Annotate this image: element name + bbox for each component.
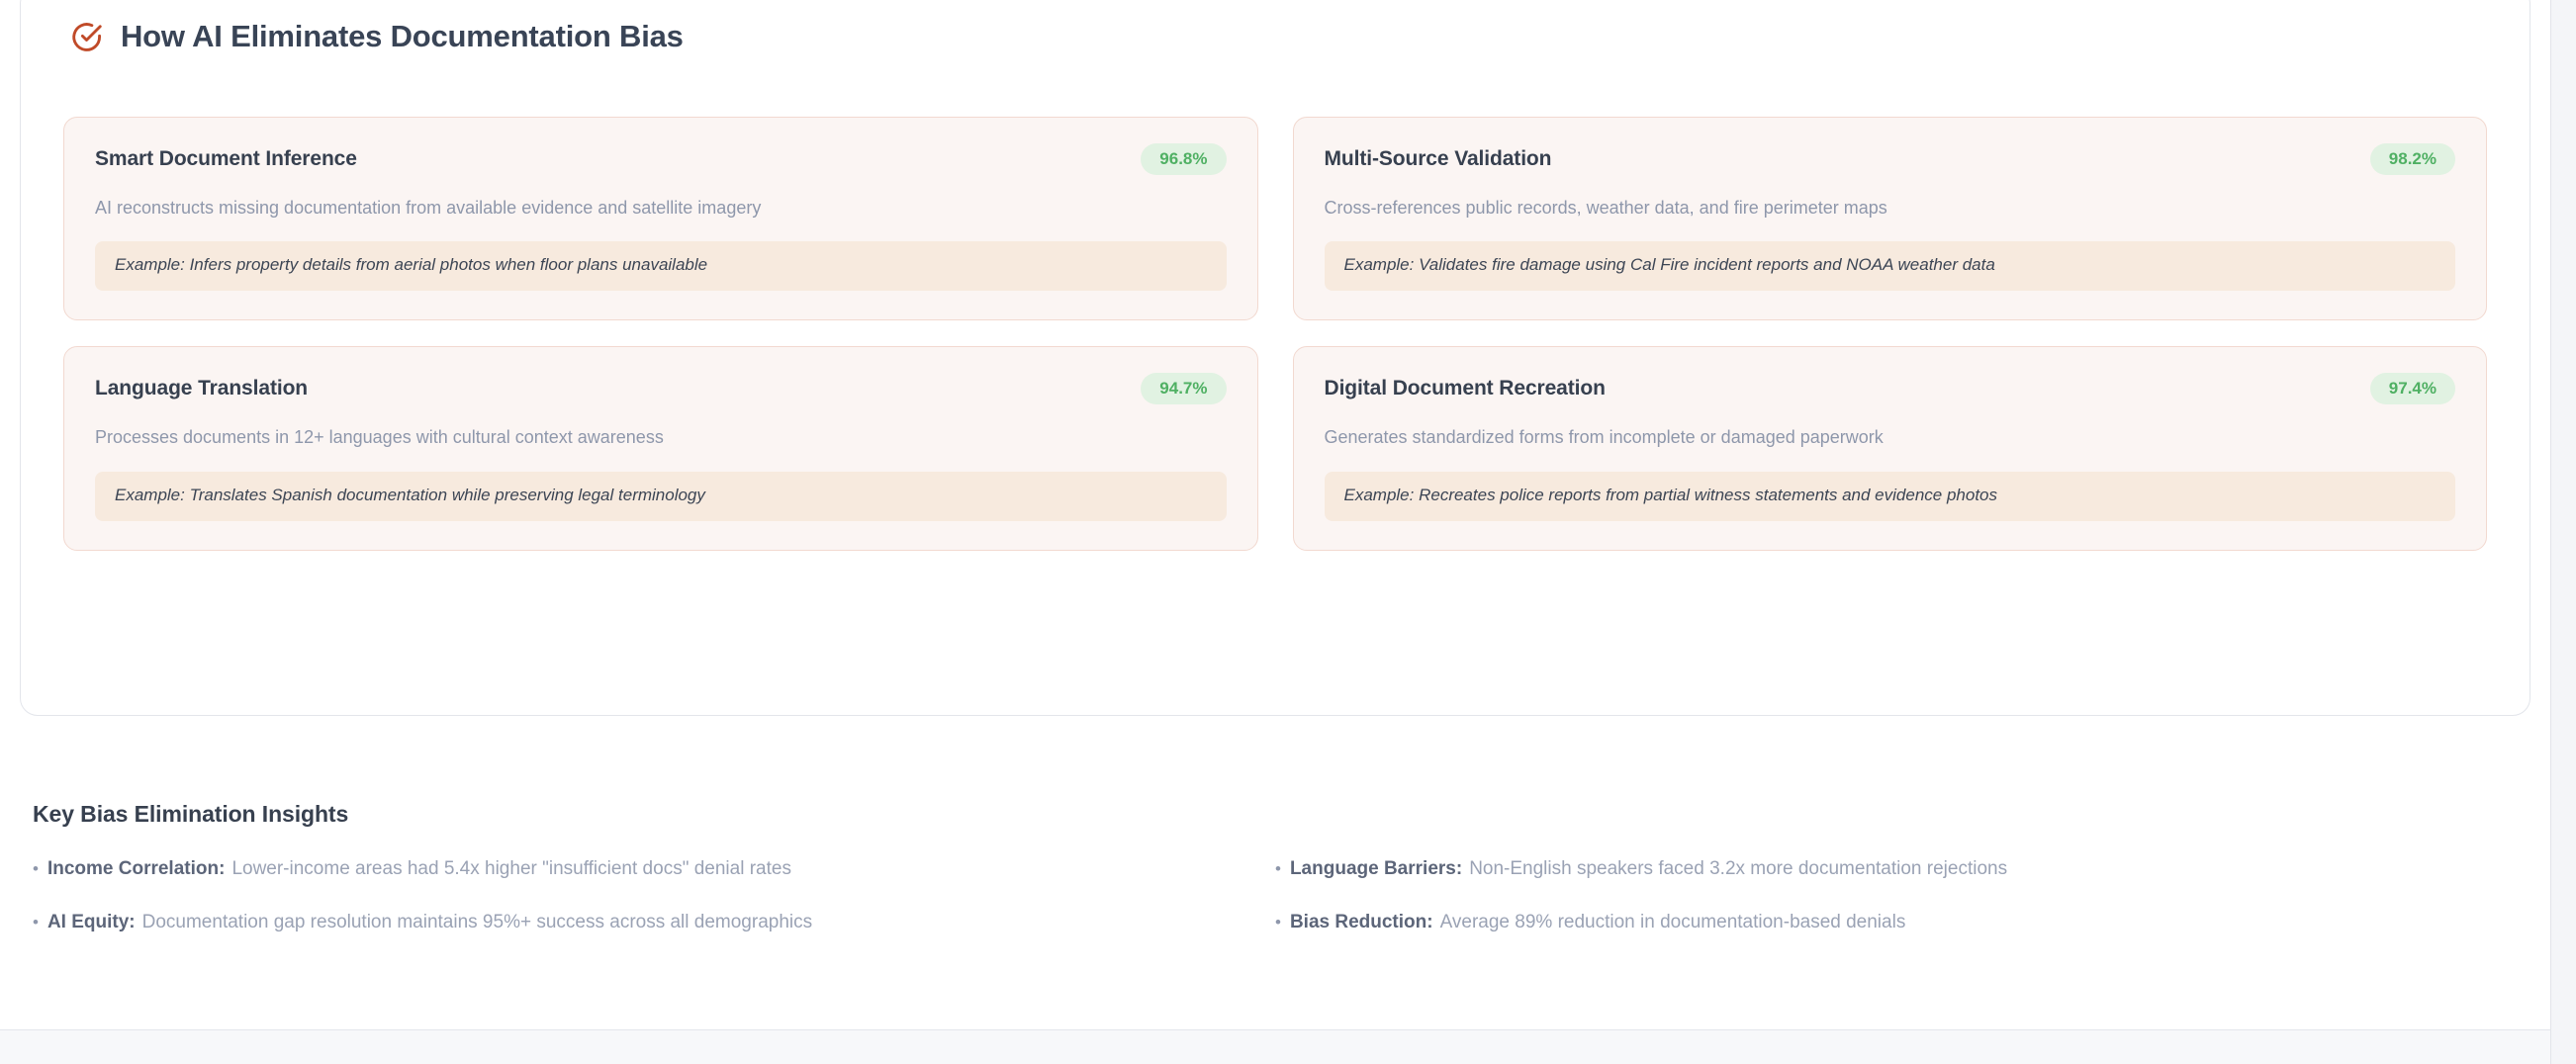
insight-label: Bias Reduction:: [1290, 910, 1433, 935]
feature-card-example: Example: Infers property details from ae…: [95, 241, 1227, 291]
accuracy-badge: 94.7%: [1141, 373, 1226, 404]
feature-card[interactable]: Language Translation 94.7% Processes doc…: [63, 346, 1258, 550]
bullet-icon: •: [1275, 858, 1281, 881]
bullet-icon: •: [33, 858, 39, 881]
feature-card-title: Multi-Source Validation: [1325, 147, 1552, 171]
feature-card-header: Language Translation 94.7%: [95, 373, 1227, 404]
insight-text: Documentation gap resolution maintains 9…: [142, 910, 813, 935]
page-root: How AI Eliminates Documentation Bias Sma…: [0, 0, 2576, 1064]
feature-card-example: Example: Translates Spanish documentatio…: [95, 472, 1227, 521]
feature-card[interactable]: Smart Document Inference 96.8% AI recons…: [63, 117, 1258, 320]
insight-item: • Bias Reduction: Average 89% reduction …: [1275, 910, 2486, 935]
bottom-strip: [0, 1030, 2550, 1064]
accuracy-badge: 96.8%: [1141, 143, 1226, 175]
check-circle-icon: [70, 21, 103, 53]
insight-text: Average 89% reduction in documentation-b…: [1440, 910, 1906, 935]
feature-card-header: Multi-Source Validation 98.2%: [1325, 143, 2456, 175]
insight-item: • Language Barriers: Non-English speaker…: [1275, 856, 2486, 882]
insight-label: Income Correlation:: [47, 856, 225, 882]
panel-header: How AI Eliminates Documentation Bias: [70, 19, 684, 54]
insight-item: • AI Equity: Documentation gap resolutio…: [33, 910, 1243, 935]
feature-card-header: Smart Document Inference 96.8%: [95, 143, 1227, 175]
page-scrollbar-track[interactable]: [2550, 0, 2576, 1064]
insight-text: Lower-income areas had 5.4x higher "insu…: [231, 856, 791, 882]
page-title: How AI Eliminates Documentation Bias: [121, 19, 684, 54]
insight-label: AI Equity:: [47, 910, 136, 935]
accuracy-badge: 97.4%: [2370, 373, 2455, 404]
bullet-icon: •: [33, 912, 39, 934]
insight-label: Language Barriers:: [1290, 856, 1462, 882]
feature-card[interactable]: Digital Document Recreation 97.4% Genera…: [1293, 346, 2488, 550]
content-column: How AI Eliminates Documentation Bias Sma…: [0, 0, 2550, 1064]
feature-card-description: Cross-references public records, weather…: [1325, 197, 2456, 220]
accuracy-badge: 98.2%: [2370, 143, 2455, 175]
bullet-icon: •: [1275, 912, 1281, 934]
feature-card-title: Smart Document Inference: [95, 147, 357, 171]
feature-card-description: Generates standardized forms from incomp…: [1325, 426, 2456, 449]
feature-card-description: Processes documents in 12+ languages wit…: [95, 426, 1227, 449]
key-insights-section: Key Bias Elimination Insights • Income C…: [33, 801, 2486, 934]
feature-card-grid: Smart Document Inference 96.8% AI recons…: [63, 117, 2487, 551]
feature-card-title: Language Translation: [95, 377, 308, 400]
feature-card-title: Digital Document Recreation: [1325, 377, 1606, 400]
feature-card-header: Digital Document Recreation 97.4%: [1325, 373, 2456, 404]
insight-text: Non-English speakers faced 3.2x more doc…: [1469, 856, 2007, 882]
insight-item: • Income Correlation: Lower-income areas…: [33, 856, 1243, 882]
feature-card-example: Example: Validates fire damage using Cal…: [1325, 241, 2456, 291]
insights-grid: • Income Correlation: Lower-income areas…: [33, 856, 2486, 934]
bias-elimination-panel: How AI Eliminates Documentation Bias Sma…: [20, 0, 2530, 716]
insights-heading: Key Bias Elimination Insights: [33, 801, 2486, 828]
feature-card-description: AI reconstructs missing documentation fr…: [95, 197, 1227, 220]
feature-card[interactable]: Multi-Source Validation 98.2% Cross-refe…: [1293, 117, 2488, 320]
feature-card-example: Example: Recreates police reports from p…: [1325, 472, 2456, 521]
